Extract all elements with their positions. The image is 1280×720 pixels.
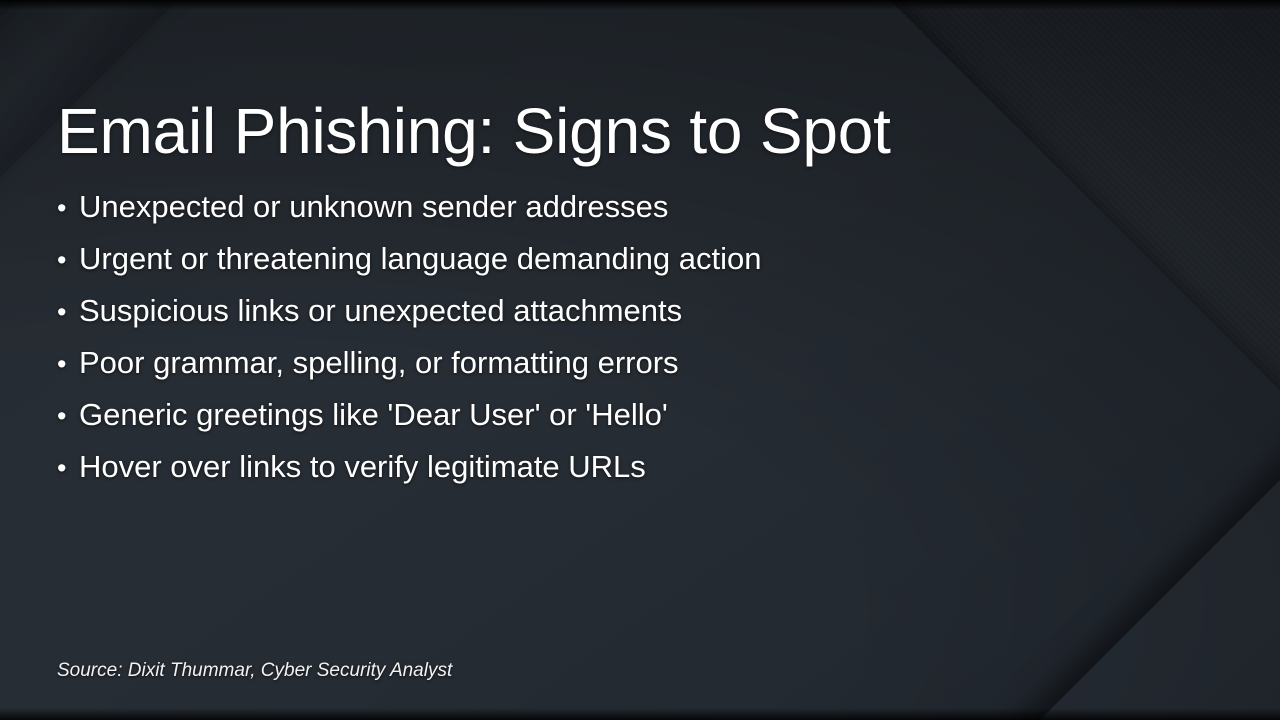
bullet-text: Urgent or threatening language demanding… (79, 238, 761, 280)
slide-content: Email Phishing: Signs to Spot • Unexpect… (0, 0, 1280, 720)
list-item: • Poor grammar, spelling, or formatting … (57, 342, 877, 394)
bullet-dot-icon: • (57, 239, 79, 281)
bullet-text: Suspicious links or unexpected attachmen… (79, 290, 682, 332)
bullet-text: Unexpected or unknown sender addresses (79, 186, 668, 228)
slide: Email Phishing: Signs to Spot • Unexpect… (0, 0, 1280, 720)
bullet-dot-icon: • (57, 447, 79, 489)
source-attribution: Source: Dixit Thummar, Cyber Security An… (57, 658, 452, 684)
list-item: • Unexpected or unknown sender addresses (57, 186, 877, 238)
slide-title: Email Phishing: Signs to Spot (57, 98, 891, 165)
bullet-dot-icon: • (57, 343, 79, 385)
bullet-dot-icon: • (57, 187, 79, 229)
bullet-text: Generic greetings like 'Dear User' or 'H… (79, 394, 668, 436)
list-item: • Generic greetings like 'Dear User' or … (57, 394, 877, 446)
bullet-dot-icon: • (57, 291, 79, 333)
list-item: • Hover over links to verify legitimate … (57, 446, 877, 498)
bullet-text: Poor grammar, spelling, or formatting er… (79, 342, 679, 384)
bullet-list: • Unexpected or unknown sender addresses… (57, 186, 877, 498)
list-item: • Suspicious links or unexpected attachm… (57, 290, 877, 342)
bullet-dot-icon: • (57, 395, 79, 437)
list-item: • Urgent or threatening language demandi… (57, 238, 877, 290)
bullet-text: Hover over links to verify legitimate UR… (79, 446, 646, 488)
